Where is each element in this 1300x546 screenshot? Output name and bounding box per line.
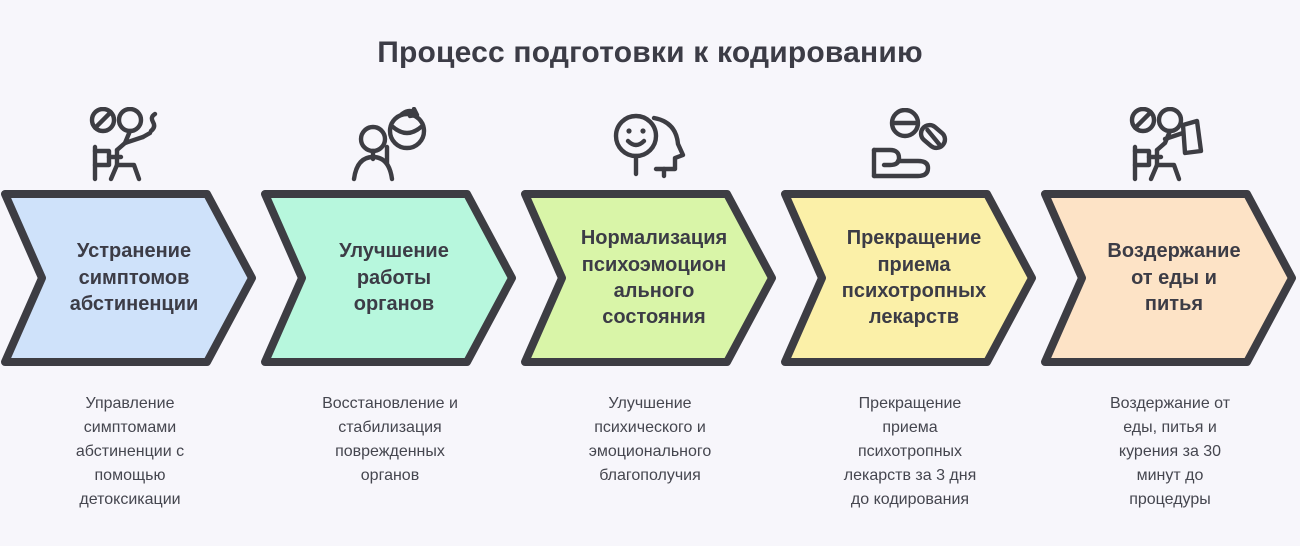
process-step-4[interactable]: Прекращение приема психотропных лекарств… (780, 104, 1040, 534)
step-5-caption: Воздержание от еды, питья и курения за 3… (1040, 392, 1300, 512)
step-2-caption: Восстановление и стабилизация поврежденн… (260, 392, 520, 488)
infographic-page: Процесс подготовки к кодированию (0, 0, 1300, 546)
process-step-2[interactable]: Улучшение работы органов Восстановление … (260, 104, 520, 534)
step-2-title: Улучшение работы органов (260, 190, 520, 366)
step-4-title: Прекращение приема психотропных лекарств (780, 190, 1040, 366)
step-4-caption: Прекращение приема психотропных лекарств… (780, 392, 1040, 512)
step-3-caption: Улучшение психического и эмоционального … (520, 392, 780, 488)
step-1-caption: Управление симптомами абстиненции с помо… (0, 392, 260, 512)
no-smoking-seated-person-icon (0, 104, 260, 186)
process-steps: Устранение симптомов абстиненции Управле… (0, 104, 1300, 534)
process-step-1[interactable]: Устранение симптомов абстиненции Управле… (0, 104, 260, 534)
process-step-5[interactable]: Воздержание от еды и питья Воздержание о… (1040, 104, 1300, 534)
hand-with-pills-icon (780, 104, 1040, 186)
step-5-title: Воздержание от еды и питья (1040, 190, 1300, 366)
process-step-3[interactable]: Нормализация психоэмоцион ального состоя… (520, 104, 780, 534)
step-1-title: Устранение симптомов абстиненции (0, 190, 260, 366)
head-smiley-mind-icon (520, 104, 780, 186)
page-title: Процесс подготовки к кодированию (0, 36, 1300, 70)
person-recovery-refresh-icon (260, 104, 520, 186)
step-3-title: Нормализация психоэмоцион ального состоя… (520, 190, 780, 366)
no-eating-drinking-seated-person-icon (1040, 104, 1300, 186)
